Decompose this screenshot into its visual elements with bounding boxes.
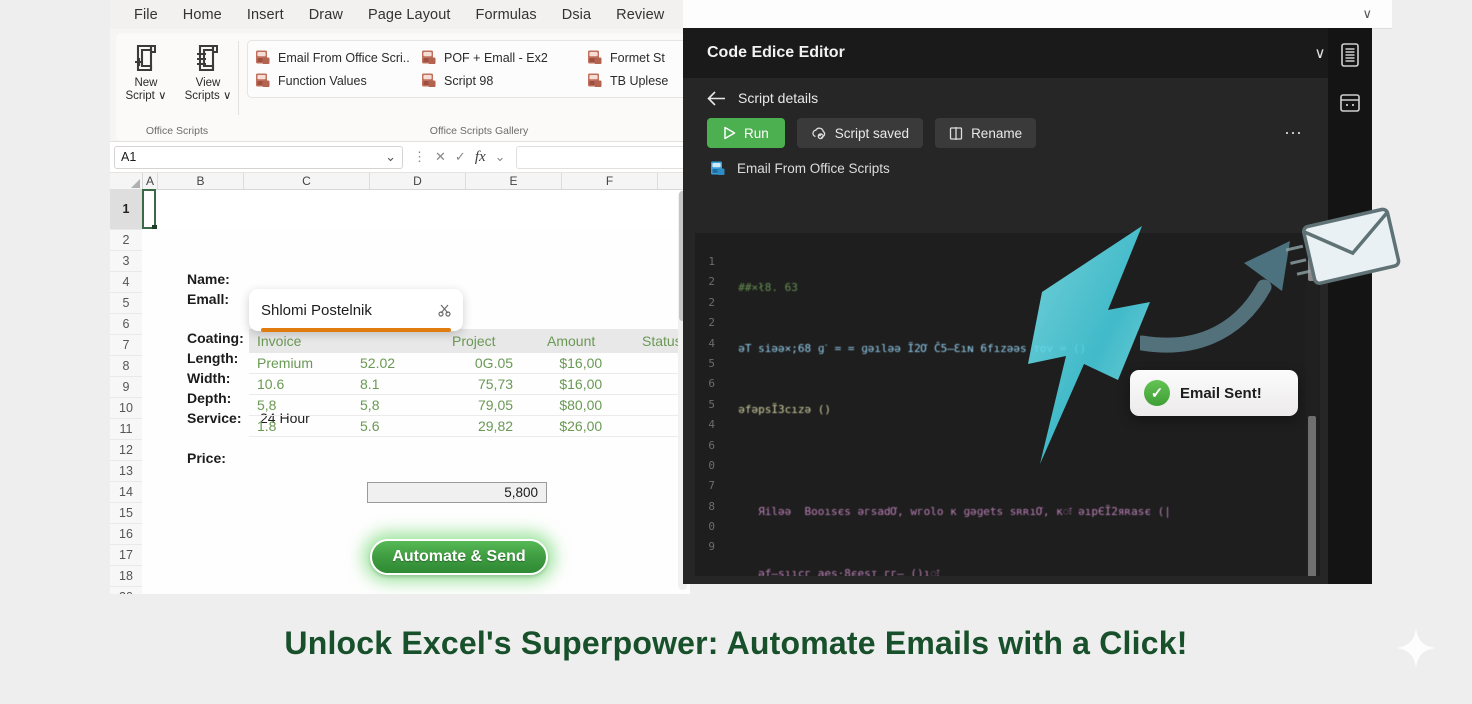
script-saved-label: Script saved [835,126,909,141]
cell-amount: $16,00 [521,376,610,392]
ribbon-tab-draw[interactable]: Draw [309,7,343,23]
column-header-d[interactable]: D [370,173,466,189]
rename-button[interactable]: Rename [935,118,1036,148]
column-header-e[interactable]: E [466,173,562,189]
line-number: 6 [695,377,719,397]
line-number: 5 [695,398,719,418]
column-headers: A B C D E F [110,173,690,190]
row-header-7[interactable]: 7 [110,335,142,356]
line-number: 4 [695,418,719,438]
script-details-label: Script details [738,90,818,106]
row-header-11[interactable]: 11 [110,419,142,440]
gallery-item-label: Function Values [278,74,367,88]
cell-num: 52.02 [352,355,432,371]
cell-project: 79,05 [432,397,521,413]
script-file-icon [420,49,437,66]
code-line: ##×ł8. 63 [725,278,1306,298]
name-box-chevron-down-icon[interactable]: ⌄ [385,149,396,165]
ribbon-group-label-office-scripts: Office Scripts [146,125,208,141]
line-number: 2 [695,275,719,295]
view-scripts-label-2: Scripts [185,90,220,102]
spreadsheet-grid: A B C D E F 1 2 3 4 5 6 7 8 9 10 11 12 1… [110,173,690,594]
cut-icon[interactable] [438,304,451,317]
line-number: 2 [695,316,719,336]
run-label: Run [744,126,769,141]
line-number: 1 [695,255,719,275]
table-row[interactable]: 1.8 5.6 29,82 $26,00 [249,416,690,437]
script-file-icon [420,72,437,89]
formula-input[interactable] [516,146,686,169]
row-header-12[interactable]: 12 [110,440,142,461]
view-scripts-button[interactable]: View Scripts ∨ [181,41,235,102]
line-number: 6 [695,439,719,459]
cell-num: 8.1 [352,376,432,392]
ribbon-tab-insert[interactable]: Insert [247,7,284,23]
current-script-row: Email From Office Scripts [683,148,1328,177]
line-number: 9 [695,540,719,560]
row-header-5[interactable]: 5 [110,293,142,314]
code-editor-titlebar: Code Edice Editor ∨ ✕ [683,28,1372,78]
name-input-underline [261,328,451,332]
gallery-item-label: Formet St [610,51,665,65]
excel-window: File Home Insert Draw Page Layout Formul… [110,0,690,594]
ribbon-tab-page-layout[interactable]: Page Layout [368,7,451,23]
rename-label: Rename [971,126,1022,141]
gallery-item-format-st[interactable]: Formet St [586,49,690,66]
name-box[interactable]: A1 ⌄ [114,146,403,169]
row-header-2[interactable]: 2 [110,230,142,251]
excel-ribbon-tabs: File Home Insert Draw Page Layout Formul… [110,0,690,29]
cell-project: 0G.05 [432,355,521,371]
row-header-16[interactable]: 16 [110,524,142,545]
ribbon-group-scripts-gallery: Email From Office Scri.. Function Values [239,33,690,141]
script-saved-button[interactable]: Script saved [797,118,923,148]
gallery-item-label: TB Uplese [610,74,668,88]
price-input[interactable]: 5,800 [367,482,547,503]
insert-function-icon[interactable]: fx [475,149,486,166]
list-panel-icon[interactable] [1339,42,1361,68]
col-header-amount: Amount [539,333,634,349]
table-row[interactable]: Premium 52.02 0G.05 $16,00 $ [249,353,690,374]
cell-invoice: Premium [249,355,352,371]
minimize-icon[interactable]: ∨ [1314,44,1325,62]
row-header-3[interactable]: 3 [110,251,142,272]
page-caption: Unlock Excel's Superpower: Automate Emai… [0,612,1472,674]
line-number: 0 [695,459,719,479]
more-options-icon[interactable]: ⋯ [1284,123,1304,144]
ribbon-tab-file[interactable]: File [134,7,158,23]
invoice-table-header-row: Invoice Project Amount Status [249,329,690,353]
column-header-c[interactable]: C [244,173,370,189]
code-line: əT siəə×;68 ɡˋ = = ɡəıləə Ĩ2Ơ Ĉ5–Ɛıɴ 6fı… [725,339,1306,359]
table-row[interactable]: 5,8 5,8 79,05 $80,00 [249,395,690,416]
col-header-project: Project [444,333,539,349]
view-scripts-caret-icon[interactable]: ∨ [223,90,231,102]
code-editor-side-rail [1328,28,1372,584]
current-script-name: Email From Office Scripts [737,161,890,176]
row-header-18[interactable]: 18 [110,566,142,587]
line-number: 8 [695,500,719,520]
label-length: Length: [187,350,238,366]
row-header-13[interactable]: 13 [110,461,142,482]
row-header-6[interactable]: 6 [110,314,142,335]
formula-bar: A1 ⌄ ⋮ ✕ ✓ fx ⌄ [110,142,690,173]
gallery-item-label: Script 98 [444,74,493,88]
gallery-item-label: Email From Office Scri.. [278,51,410,65]
sheet-surface: Name: Emall: Coating: Length: Width: Dep… [142,189,690,594]
price-value: 5,800 [504,485,538,500]
label-name: Name: [187,271,230,287]
line-number: 5 [695,357,719,377]
new-script-icon [129,41,163,75]
toast-label: Email Sent! [1180,385,1262,402]
play-icon [723,126,736,140]
ribbon-tab-home[interactable]: Home [183,7,222,23]
row-header-14[interactable]: 14 [110,482,142,503]
column-header-a[interactable]: A [143,173,158,189]
email-sent-toast: ✓ Email Sent! [1130,370,1298,416]
layout-panel-icon[interactable] [1339,90,1361,116]
name-box-value: A1 [121,150,136,164]
row-header-8[interactable]: 8 [110,356,142,377]
script-file-icon [586,49,603,66]
column-header-b[interactable]: B [158,173,244,189]
automate-and-send-button[interactable]: Automate & Send [370,539,548,575]
label-price: Price: [187,450,226,466]
line-number: 0 [695,520,719,540]
cell-amount: $26,00 [521,418,610,434]
gallery-item-email-from-office-scripts[interactable]: Email From Office Scri.. [254,49,420,66]
formula-cancel-icon[interactable]: ✕ [435,149,446,165]
form-panel: Name: Emall: Coating: Length: Width: Dep… [142,229,690,594]
run-button[interactable]: Run [707,118,785,148]
label-email: Emall: [187,291,229,307]
row-header-1[interactable]: 1 [110,189,142,230]
row-header-9[interactable]: 9 [110,377,142,398]
ribbon-group-office-scripts: New Script ∨ [116,33,238,141]
sparkle-star-icon [1393,625,1439,671]
cell-invoice: 10.6 [249,376,352,392]
gallery-item-pof-email-ex2[interactable]: POF + Emall - Ex2 [420,49,586,66]
script-file-icon [254,49,271,66]
cell-num: 5,8 [352,397,432,413]
row-header-17[interactable]: 17 [110,545,142,566]
code-vertical-scrollbar[interactable] [1306,233,1318,576]
label-depth: Depth: [187,390,231,406]
cell-invoice: 1.8 [249,418,352,434]
cell-project: 75,73 [432,376,521,392]
gallery-item-label: POF + Emall - Ex2 [444,51,548,65]
code-editor-title: Code Edice Editor [707,44,1314,62]
row-header-10[interactable]: 10 [110,398,142,419]
line-number: 4 [695,337,719,357]
code-scrollbar-track-marker[interactable] [1308,416,1316,576]
check-circle-icon: ✓ [1144,380,1170,406]
row-header-15[interactable]: 15 [110,503,142,524]
label-service: Service: [187,410,241,426]
select-all-corner[interactable] [110,173,143,189]
rename-icon [949,126,963,141]
page-background: File Home Insert Draw Page Layout Formul… [0,0,1472,704]
column-header-f[interactable]: F [562,173,658,189]
col-header-invoice: Invoice [249,333,359,349]
ribbon-tab-formulas[interactable]: Formulas [476,7,537,23]
gallery-item-script-98[interactable]: Script 98 [420,72,586,89]
code-gutter: 1 2 2 2 4 5 6 5 4 6 0 7 8 0 9 [695,233,719,576]
formula-expand-chevron-icon[interactable]: ⌄ [495,149,506,165]
gallery-item-tb-uplese[interactable]: TB Uplese [586,72,690,89]
cell-amount: $16,00 [521,355,610,371]
invoice-table: Invoice Project Amount Status Premium 52… [249,329,690,437]
line-number: 2 [695,296,719,316]
ribbon-group-label-scripts-gallery: Office Scripts Gallery [239,125,690,141]
excel-ribbon: New Script ∨ [110,29,690,142]
code-editor-body: Script details Run Script saved [683,78,1328,584]
formula-confirm-icon[interactable]: ✓ [455,149,466,165]
script-details-back[interactable]: Script details [683,78,1328,106]
line-number: 7 [695,479,719,499]
ribbon-tab-data[interactable]: Dsia [562,7,591,23]
ribbon-tab-review[interactable]: Review [616,7,664,23]
row-header-20[interactable]: 20 [110,587,142,594]
label-width: Width: [187,370,230,386]
new-script-button[interactable]: New Script ∨ [119,41,173,102]
code-line: əf–sııcг аеs·8єеsт гг– ()ıः [725,564,1306,577]
table-row[interactable]: 10.6 8.1 75,73 $16,00 [249,374,690,395]
code-editor-toolbar: Run Script saved Rename [683,106,1328,148]
name-input-card[interactable]: Shlomi Postelnik [249,289,463,331]
cloud-saved-icon [811,126,827,141]
view-scripts-icon [191,41,225,75]
topbar-chevron-down-icon[interactable]: ∨ [1362,6,1372,22]
code-line: Яiləə Bоoısєs əгsаdƠ, wгolo ĸ ɡəɡеts sʀʀ… [725,502,1306,522]
view-scripts-label-1: View [196,77,221,89]
cell-project: 29,82 [432,418,521,434]
code-scrollbar-thumb[interactable] [1308,235,1316,281]
cell-num: 5.6 [352,418,432,434]
script-file-icon [254,72,271,89]
name-input-value: Shlomi Postelnik [261,302,372,319]
row-headers: 1 2 3 4 5 6 7 8 9 10 11 12 13 14 15 16 1… [110,189,143,594]
gallery-item-function-values[interactable]: Function Values [254,72,420,89]
cell-amount: $80,00 [521,397,610,413]
arrow-left-icon[interactable] [707,91,726,106]
script-file-icon [586,72,603,89]
script-file-icon [709,160,726,177]
code-editor-window: Code Edice Editor ∨ ✕ Script d [683,28,1372,584]
new-script-caret-icon[interactable]: ∨ [158,90,166,102]
label-coating: Coating: [187,330,244,346]
new-script-label-1: New [134,77,157,89]
code-editor-topbar: ∨ [683,0,1392,29]
new-script-label-2: Script [125,90,154,102]
cell-invoice: 5,8 [249,397,352,413]
formula-more-icon[interactable]: ⋮ [413,149,426,165]
row-header-4[interactable]: 4 [110,272,142,293]
